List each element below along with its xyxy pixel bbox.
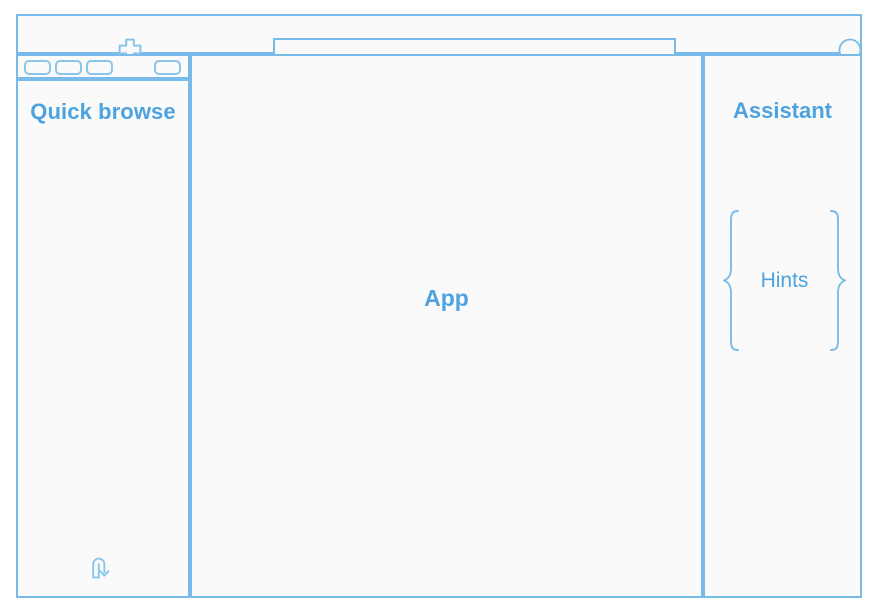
wireframe-canvas: Quick browse App Assistant	[0, 0, 879, 616]
assistant-panel: Assistant Hints	[703, 54, 862, 598]
u-turn-arrow-icon[interactable]	[88, 552, 118, 582]
hints-group: Hints	[719, 208, 850, 353]
quick-browse-panel: Quick browse	[16, 79, 190, 598]
tab-strip	[16, 54, 190, 79]
tab-action[interactable]	[154, 60, 181, 75]
app-title: App	[192, 56, 701, 596]
browser-toolbar	[16, 14, 862, 54]
tab-3[interactable]	[86, 60, 113, 75]
assistant-title: Assistant	[705, 98, 860, 124]
hints-label: Hints	[719, 208, 850, 353]
tab-1[interactable]	[24, 60, 51, 75]
app-content-panel: App	[190, 54, 703, 598]
quick-browse-title: Quick browse	[18, 97, 188, 126]
tab-2[interactable]	[55, 60, 82, 75]
